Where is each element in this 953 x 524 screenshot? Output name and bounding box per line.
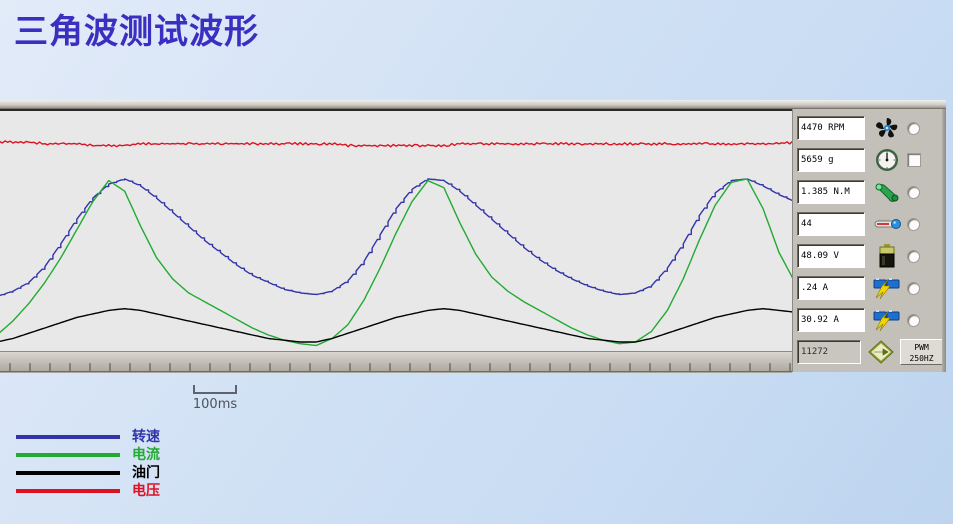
readout-field-2[interactable]: 1.385 N.M: [797, 180, 865, 204]
pwm-frequency-button[interactable]: PWM250HZ: [900, 339, 943, 365]
readout-row: 48.09 V: [797, 241, 943, 271]
readout-radio-2[interactable]: [907, 186, 920, 199]
current-icon: [869, 306, 905, 334]
readout-field-7[interactable]: 11272: [797, 340, 861, 364]
torque-icon: [869, 178, 905, 206]
fan-icon: [869, 114, 905, 142]
series-油门: [0, 309, 792, 342]
gauge-icon: [869, 146, 905, 174]
page-title: 三角波测试波形: [14, 10, 259, 54]
legend-label: 电压: [132, 484, 160, 498]
current-icon: [869, 274, 905, 302]
readout-radio-5[interactable]: [907, 282, 920, 295]
readout-row: 30.92 A: [797, 305, 943, 335]
pwm-label-line1: PWM: [901, 342, 942, 353]
waveform-plot: [0, 111, 792, 353]
legend-item: 转速: [16, 428, 160, 446]
legend-item: 电压: [16, 482, 160, 500]
readout-row: 4470 RPM: [797, 113, 943, 143]
readout-field-0[interactable]: 4470 RPM: [797, 116, 865, 140]
readout-row: 5659 g: [797, 145, 943, 175]
scale-label: 100ms: [180, 397, 250, 412]
readout-row: 44: [797, 209, 943, 239]
oscilloscope-window: 4470 RPM5659 g1.385 N.M4448.09 V.24 A30.…: [0, 100, 946, 372]
legend-item: 电流: [16, 446, 160, 464]
legend-label: 转速: [132, 430, 160, 444]
window-body: 4470 RPM5659 g1.385 N.M4448.09 V.24 A30.…: [0, 109, 946, 372]
battery-icon: [869, 242, 905, 270]
readout-field-5[interactable]: .24 A: [797, 276, 865, 300]
readout-row: .24 A: [797, 273, 943, 303]
legend-swatch-电压: [16, 489, 120, 493]
legend-swatch-转速: [16, 435, 120, 439]
readout-field-6[interactable]: 30.92 A: [797, 308, 865, 332]
legend-swatch-电流: [16, 453, 120, 457]
readout-radio-4[interactable]: [907, 250, 920, 263]
series-电压: [0, 141, 792, 147]
waveform-chart[interactable]: [0, 109, 792, 373]
time-axis-ruler[interactable]: [0, 351, 792, 373]
series-转速: [0, 179, 792, 297]
legend-label: 电流: [132, 448, 160, 462]
readout-radio-0[interactable]: [907, 122, 920, 135]
legend-swatch-油门: [16, 471, 120, 475]
scale-bracket: [193, 385, 237, 394]
time-scale-bar: 100ms: [180, 385, 250, 412]
readout-field-4[interactable]: 48.09 V: [797, 244, 865, 268]
readout-field-1[interactable]: 5659 g: [797, 148, 865, 172]
chart-legend: 转速电流油门电压: [16, 428, 160, 500]
series-电流: [0, 179, 792, 346]
legend-item: 油门: [16, 464, 160, 482]
telemetry-readout-panel: 4470 RPM5659 g1.385 N.M4448.09 V.24 A30.…: [792, 109, 946, 372]
pwm-label-line2: 250HZ: [901, 353, 942, 364]
window-top-strip: [0, 100, 946, 109]
readout-checkbox-1[interactable]: [907, 153, 921, 167]
legend-label: 油门: [132, 466, 160, 480]
readout-field-3[interactable]: 44: [797, 212, 865, 236]
readout-radio-3[interactable]: [907, 218, 920, 231]
readout-radio-6[interactable]: [907, 314, 920, 327]
thermometer-icon: [869, 210, 905, 238]
readout-row: 1.385 N.M: [797, 177, 943, 207]
readout-row: 11272PWM250HZ: [797, 337, 943, 367]
arrow-diamond-icon: [865, 338, 898, 366]
ruler-ticks: [0, 352, 792, 373]
